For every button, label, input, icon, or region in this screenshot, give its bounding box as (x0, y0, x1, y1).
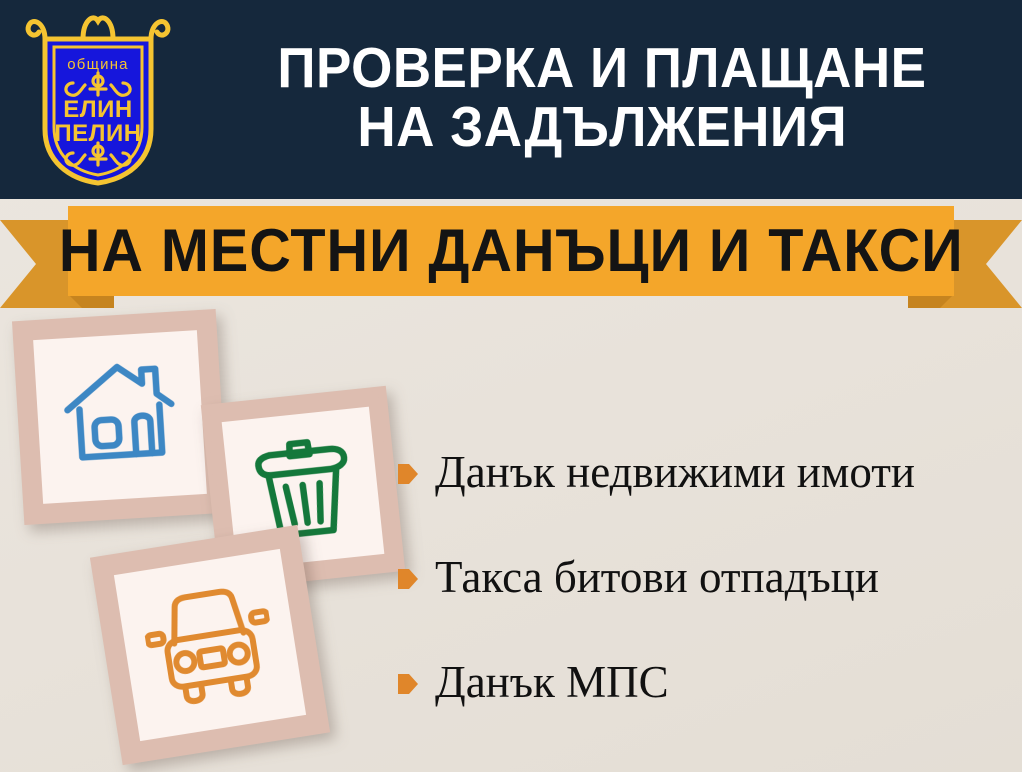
list-item[interactable]: Данък МПС (398, 630, 1008, 735)
arrow-pentagon-bullet-icon (398, 567, 418, 591)
municipality-coat-of-arms-shield-icon: община ЕЛИН ПЕЛИН (23, 11, 173, 189)
list-item[interactable]: Данък недвижими имоти (398, 420, 1008, 525)
arrow-pentagon-bullet-icon (398, 462, 418, 486)
logo-text-elin: ЕЛИН (63, 96, 132, 123)
list-item[interactable]: Такса битови отпадъци (398, 525, 1008, 630)
stamp-card-vehicle (90, 525, 330, 765)
house-icon (61, 356, 179, 467)
page-title-line-2: НА ЗАДЪЛЖЕНИЯ (357, 98, 847, 156)
logo-text-obshtina: община (67, 56, 128, 73)
trash-bin-icon (248, 430, 359, 546)
arrow-pentagon-bullet-icon (398, 672, 418, 696)
ribbon-body: НА МЕСТНИ ДАНЪЦИ И ТАКСИ (68, 206, 954, 296)
logo-text-pelin: ПЕЛИН (54, 120, 141, 147)
page-title: ПРОВЕРКА И ПЛАЩАНЕ НА ЗАДЪЛЖЕНИЯ (196, 39, 1022, 155)
tax-type-list: Данък недвижими имоти Такса битови отпад… (398, 420, 1008, 735)
municipality-logo: община ЕЛИН ПЕЛИН (0, 0, 196, 199)
list-item-label: Данък МПС (435, 660, 669, 705)
list-item-label: Такса битови отпадъци (435, 555, 879, 600)
page-title-line-1: ПРОВЕРКА И ПЛАЩАНЕ (277, 39, 926, 97)
car-front-icon (139, 579, 282, 713)
subtitle-ribbon: НА МЕСТНИ ДАНЪЦИ И ТАКСИ (0, 198, 1022, 308)
ribbon-label: НА МЕСТНИ ДАНЪЦИ И ТАКСИ (59, 221, 964, 281)
header-banner: община ЕЛИН ПЕЛИН ПРОВЕРКА И ПЛАЩАНЕ НА … (0, 0, 1022, 199)
list-item-label: Данък недвижими имоти (435, 450, 915, 495)
poster-canvas: община ЕЛИН ПЕЛИН ПРОВЕРКА И ПЛАЩАНЕ НА … (0, 0, 1022, 772)
stamp-card-property (12, 309, 228, 525)
